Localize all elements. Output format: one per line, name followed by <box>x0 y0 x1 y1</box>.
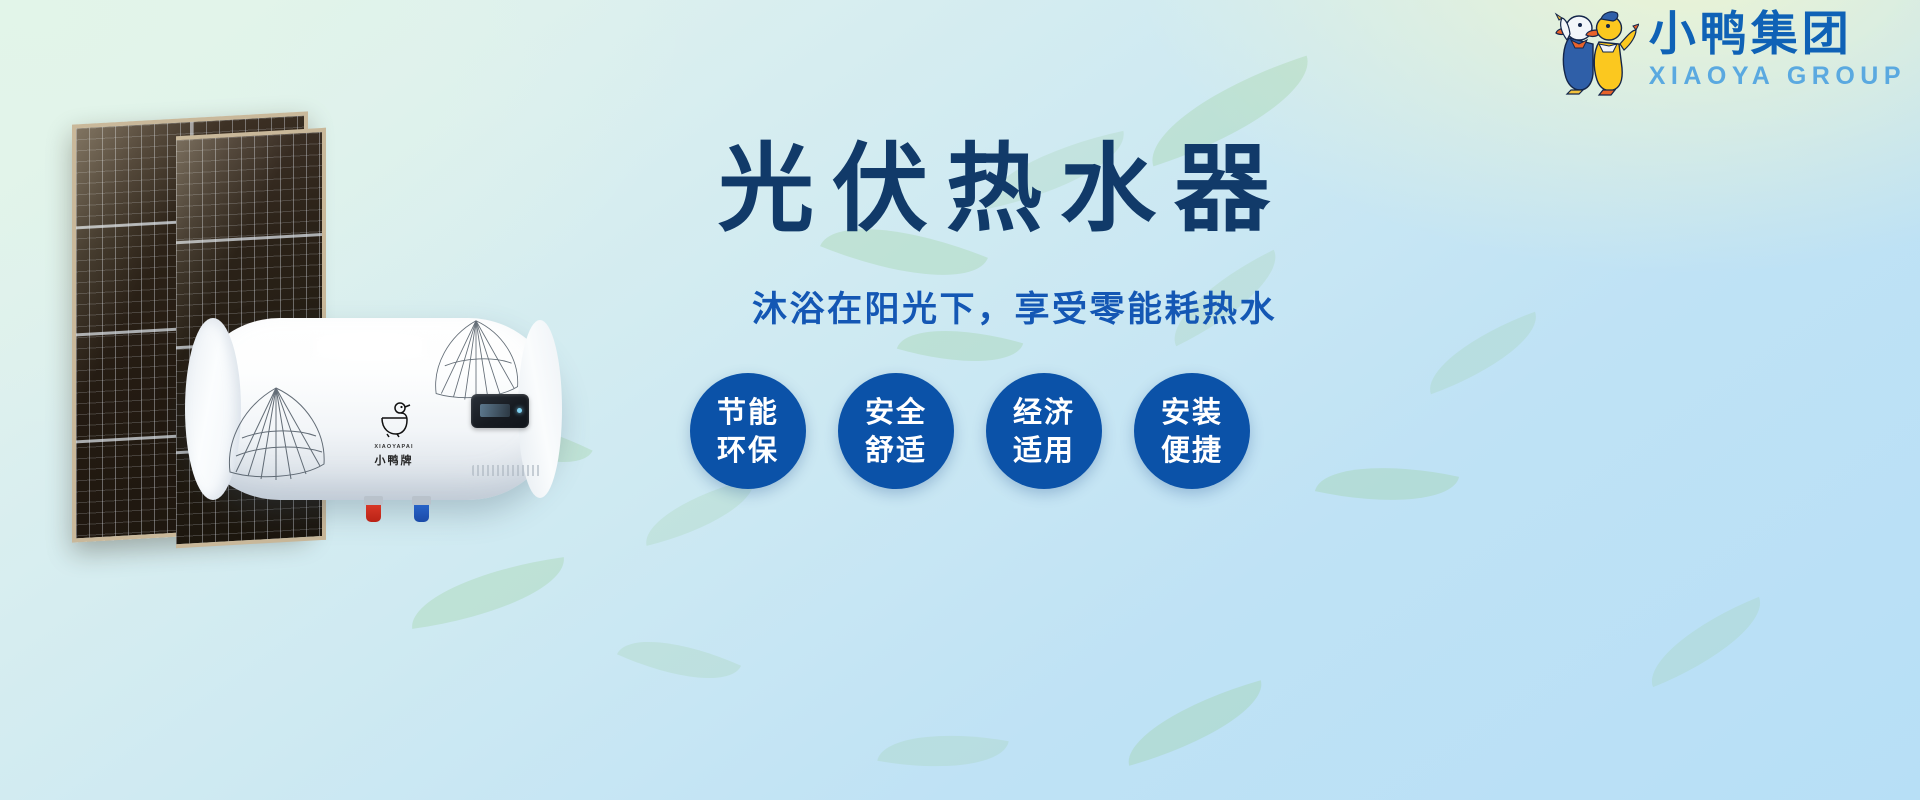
promo-banner: XIAOYAPAI 小鸭牌 光伏热水器 沐浴在阳光下，享受零能耗热水 节能 环保… <box>0 0 1920 800</box>
shell-pattern-icon <box>424 310 528 406</box>
leaf-decoration-icon <box>1417 312 1550 395</box>
logo-name-cn: 小鸭集团 <box>1649 11 1853 58</box>
lcd-indicator-light <box>517 408 522 413</box>
logo-name-en: XIAOYA GROUP <box>1649 64 1906 89</box>
feature-badge-line1: 节能 <box>717 393 779 431</box>
feature-badge-line1: 安装 <box>1161 393 1223 431</box>
leaf-decoration-icon <box>1637 597 1776 687</box>
logo-wordmark: 小鸭集团 XIAOYA GROUP <box>1649 11 1906 89</box>
feature-badge-list: 节能 环保 安全 舒适 经济 适用 安装 便捷 <box>690 373 1250 489</box>
shell-pattern-icon <box>216 376 336 486</box>
company-logo[interactable]: 小鸭集团 XIAOYA GROUP <box>1553 4 1906 96</box>
leaf-decoration-icon <box>1117 680 1274 766</box>
feature-badge-line1: 经济 <box>1013 393 1075 431</box>
cold-water-pipe-icon <box>414 496 429 522</box>
lcd-control-panel-icon[interactable] <box>471 394 529 428</box>
lcd-segment-readout <box>480 404 510 417</box>
feature-badge-line2: 适用 <box>1013 431 1075 469</box>
heater-brand-en: XIAOYAPAI <box>358 444 430 450</box>
feature-badge-line2: 环保 <box>717 431 779 469</box>
heater-brand-mark: XIAOYAPAI 小鸭牌 <box>358 400 430 468</box>
duck-outline-icon <box>377 400 411 438</box>
water-heater-product-image: XIAOYAPAI 小鸭牌 <box>188 318 560 500</box>
feature-badge[interactable]: 安装 便捷 <box>1134 373 1250 489</box>
leaf-decoration-icon <box>877 719 1008 782</box>
leaf-decoration-icon <box>617 618 741 703</box>
page-title: 光伏热水器 <box>718 138 1288 242</box>
feature-badge-line2: 便捷 <box>1161 431 1223 469</box>
heater-spec-label <box>472 465 542 476</box>
feature-badge[interactable]: 经济 适用 <box>986 373 1102 489</box>
heater-brand-cn: 小鸭牌 <box>358 452 430 468</box>
page-subtitle: 沐浴在阳光下，享受零能耗热水 <box>752 281 1277 332</box>
feature-badge-line2: 舒适 <box>865 431 927 469</box>
feature-badge-line1: 安全 <box>865 393 927 431</box>
feature-badge[interactable]: 节能 环保 <box>690 373 806 489</box>
leaf-decoration-icon <box>1315 448 1459 520</box>
leaf-decoration-icon <box>405 557 570 629</box>
feature-badge[interactable]: 安全 舒适 <box>838 373 954 489</box>
hot-water-pipe-icon <box>366 496 381 522</box>
two-ducks-mascot-icon <box>1553 4 1639 96</box>
